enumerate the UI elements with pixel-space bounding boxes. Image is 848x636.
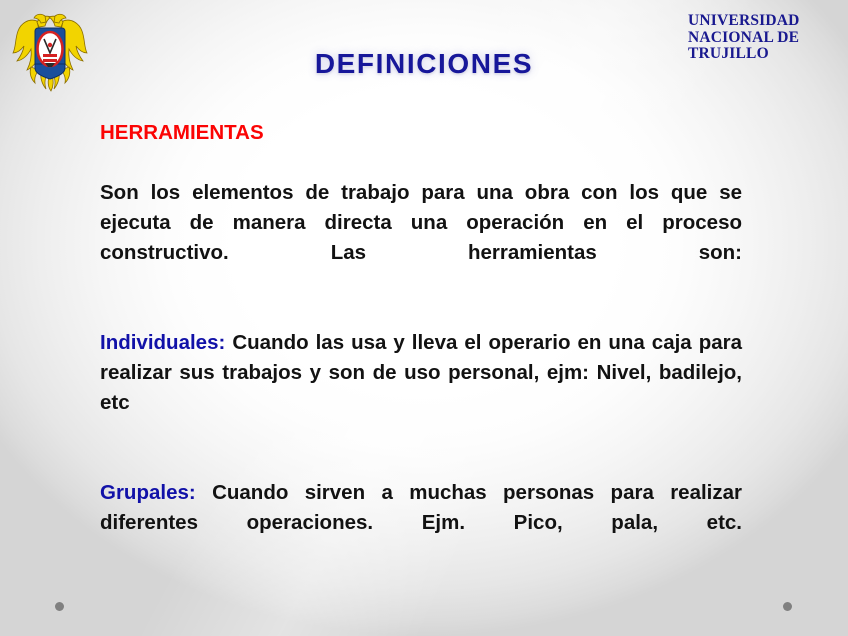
slide-body: HERRAMIENTAS Son los elementos de trabaj… [100,118,742,568]
paragraph-spacer-1 [100,298,742,328]
item-paragraph-individuales: Individuales: Cuando las usa y lleva el … [100,328,742,448]
item-label-individuales: Individuales: [100,331,225,354]
slide-title: DEFINICIONES [0,48,848,80]
slide-canvas: UNIVERSIDAD NACIONAL DE TRUJILLO DEFINIC… [0,0,848,636]
section-heading-paragraph: HERRAMIENTAS [100,118,742,178]
section-heading: HERRAMIENTAS [100,121,264,144]
paragraph-spacer-2 [100,448,742,478]
item-label-grupales: Grupales: [100,481,196,504]
decorative-dot-right [783,602,792,611]
intro-paragraph: Son los elementos de trabajo para una ob… [100,178,742,298]
item-paragraph-grupales: Grupales: Cuando sirven a muchas persona… [100,478,742,568]
institution-line-2: NACIONAL DE [688,30,838,47]
decorative-dot-left [55,602,64,611]
institution-line-1: UNIVERSIDAD [688,13,838,30]
item-text-grupales-space [196,481,212,504]
